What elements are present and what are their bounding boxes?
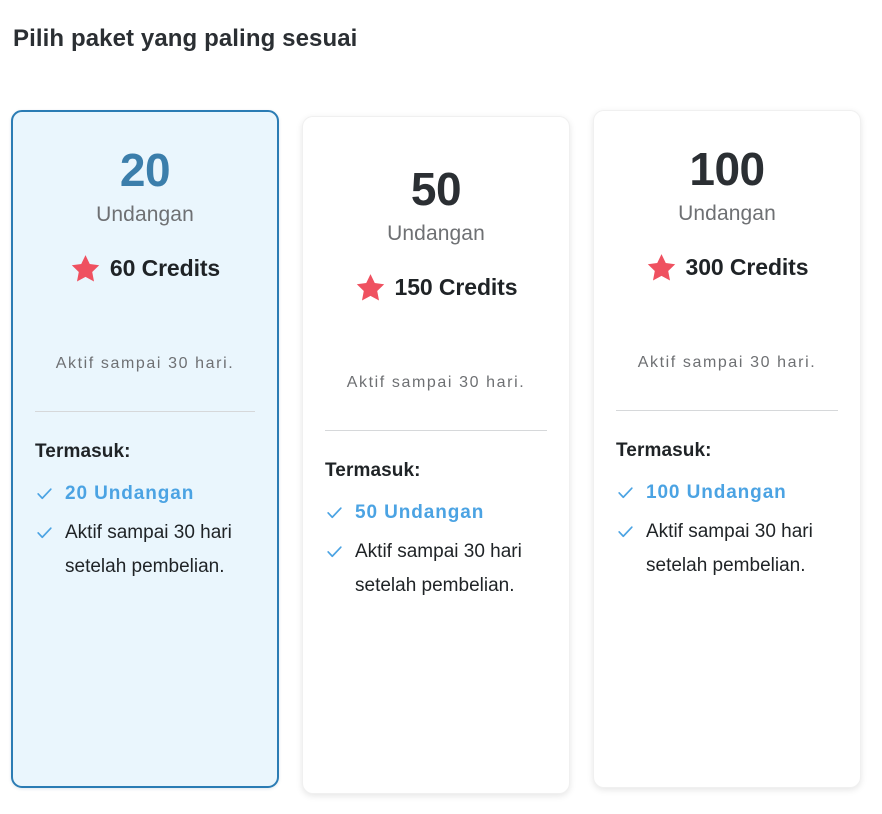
feature-list: 20 Undangan Aktif sampai 30 hari setelah…: [35, 477, 255, 583]
star-icon: [355, 272, 386, 303]
list-item: Aktif sampai 30 hari setelah pembelian.: [616, 515, 838, 583]
plan-quantity-label: Undangan: [616, 202, 838, 226]
plan-credits: 60 Credits: [110, 255, 220, 282]
feature-text: 20 Undangan: [65, 477, 194, 511]
check-icon: [616, 483, 635, 502]
pricing-cards-row: 20 Undangan 60 Credits Aktif sampai 30 h…: [0, 110, 882, 794]
list-item: 50 Undangan: [325, 496, 547, 530]
pricing-card-plan-50[interactable]: 50 Undangan 150 Credits Aktif sampai 30 …: [302, 116, 570, 794]
feature-list: 100 Undangan Aktif sampai 30 hari setela…: [616, 476, 838, 582]
feature-text: 50 Undangan: [355, 496, 484, 530]
feature-text: Aktif sampai 30 hari setelah pembelian.: [646, 515, 838, 583]
check-icon: [325, 503, 344, 522]
star-icon: [646, 252, 677, 283]
check-icon: [325, 542, 344, 561]
plan-validity: Aktif sampai 30 hari.: [616, 351, 838, 376]
feature-list: 50 Undangan Aktif sampai 30 hari setelah…: [325, 496, 547, 602]
list-item: Aktif sampai 30 hari setelah pembelian.: [325, 535, 547, 603]
star-icon: [70, 253, 101, 284]
check-icon: [35, 523, 54, 542]
card-divider: [616, 410, 838, 411]
plan-credits: 150 Credits: [395, 274, 518, 301]
plan-validity: Aktif sampai 30 hari.: [325, 371, 547, 396]
feature-text: Aktif sampai 30 hari setelah pembelian.: [65, 516, 255, 584]
card-divider: [325, 430, 547, 431]
plan-credits: 300 Credits: [686, 254, 809, 281]
plan-quantity-label: Undangan: [325, 222, 547, 246]
plan-quantity: 20: [35, 146, 255, 194]
feature-text: 100 Undangan: [646, 476, 787, 510]
included-title: Termasuk:: [325, 460, 547, 482]
list-item: 100 Undangan: [616, 476, 838, 510]
plan-credits-row: 60 Credits: [35, 253, 255, 284]
list-item: 20 Undangan: [35, 477, 255, 511]
plan-validity: Aktif sampai 30 hari.: [35, 352, 255, 377]
included-title: Termasuk:: [35, 441, 255, 463]
included-title: Termasuk:: [616, 440, 838, 462]
pricing-page: Pilih paket yang paling sesuai 20 Undang…: [0, 0, 882, 814]
page-title: Pilih paket yang paling sesuai: [13, 25, 357, 53]
pricing-card-plan-100[interactable]: 100 Undangan 300 Credits Aktif sampai 30…: [593, 110, 861, 788]
plan-quantity: 50: [325, 165, 547, 213]
plan-credits-row: 150 Credits: [325, 272, 547, 303]
plan-quantity-label: Undangan: [35, 203, 255, 227]
plan-quantity: 100: [616, 145, 838, 193]
check-icon: [616, 522, 635, 541]
card-divider: [35, 411, 255, 412]
plan-credits-row: 300 Credits: [616, 252, 838, 283]
check-icon: [35, 484, 54, 503]
feature-text: Aktif sampai 30 hari setelah pembelian.: [355, 535, 547, 603]
list-item: Aktif sampai 30 hari setelah pembelian.: [35, 516, 255, 584]
pricing-card-plan-20[interactable]: 20 Undangan 60 Credits Aktif sampai 30 h…: [11, 110, 279, 788]
